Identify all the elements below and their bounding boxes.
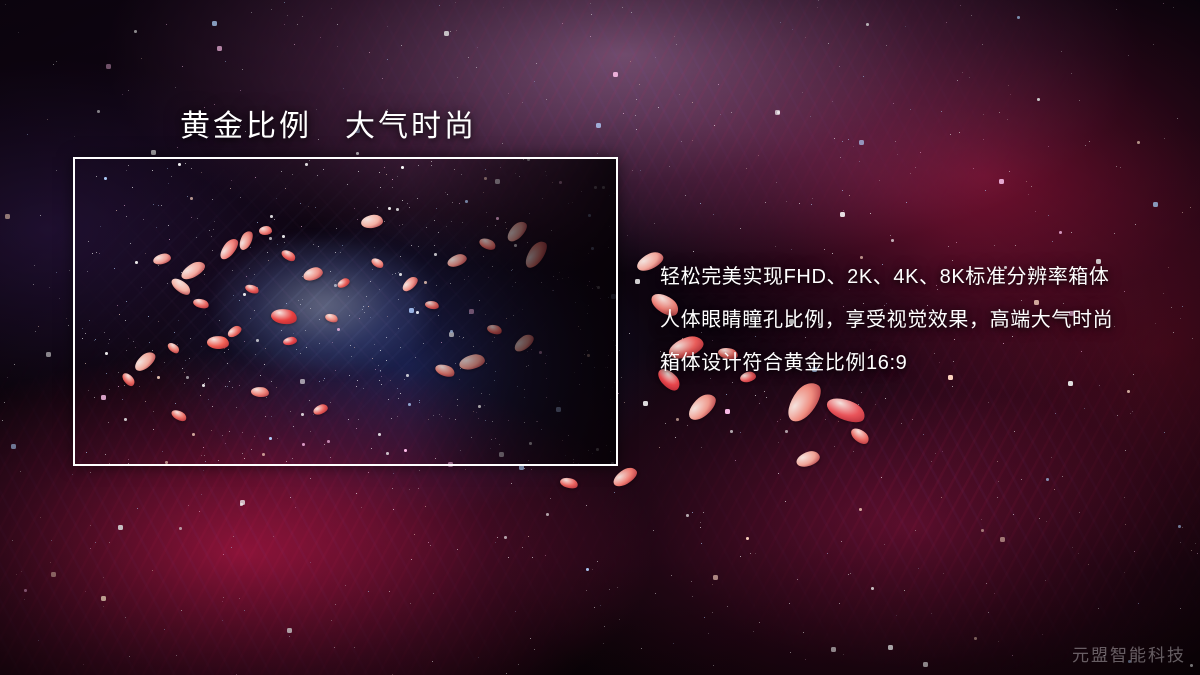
feature-line-2: 人体眼睛瞳孔比例，享受视觉效果，高端大气时尚 bbox=[660, 299, 1113, 342]
feature-text-block: 轻松完美实现FHD、2K、4K、8K标准分辨率箱体 人体眼睛瞳孔比例，享受视觉效… bbox=[660, 256, 1113, 385]
petal bbox=[824, 393, 869, 428]
feature-line-3: 箱体设计符合黄金比例16:9 bbox=[660, 342, 1113, 385]
petal bbox=[559, 476, 579, 491]
feature-line-1: 轻松完美实现FHD、2K、4K、8K标准分辨率箱体 bbox=[660, 256, 1113, 299]
petal bbox=[795, 449, 822, 469]
panel-shadow-overlay bbox=[75, 159, 616, 464]
background-bright-stars bbox=[0, 0, 1, 1]
petal bbox=[684, 390, 720, 424]
page-title: 黄金比例 大气时尚 bbox=[180, 101, 477, 145]
petal bbox=[848, 425, 871, 447]
petal bbox=[610, 464, 640, 489]
watermark: 元盟智能科技 bbox=[1072, 641, 1186, 666]
image-frame[interactable] bbox=[73, 157, 618, 466]
presentation-slide: 黄金比例 大气时尚 轻松完美实现FHD、2K、4K、8K标准分辨率箱体 人体眼睛… bbox=[0, 0, 1200, 675]
